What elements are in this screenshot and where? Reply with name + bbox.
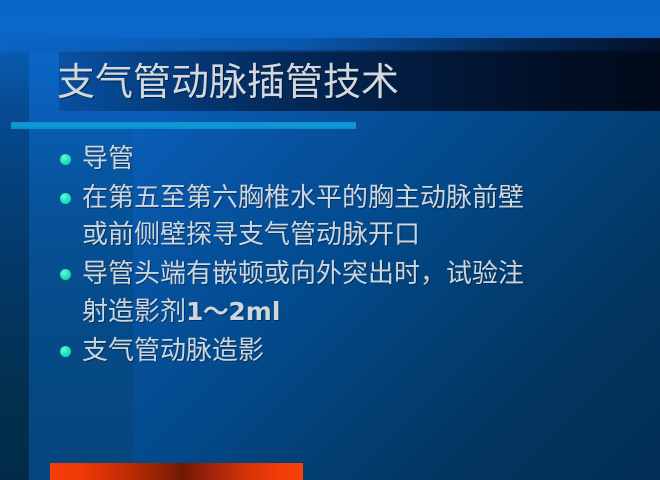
title-underline-rule [11,122,356,129]
slide-title: 支气管动脉插管技术 [57,54,657,110]
list-item: 导管头端有嵌顿或向外突出时，试验注 射造影剂1～2ml [54,256,650,331]
list-item: 导管 [54,141,650,178]
bullet-line-text: 射造影剂 [82,297,186,327]
bullet-list: 导管 在第五至第六胸椎水平的胸主动脉前壁 或前侧壁探寻支气管动脉开口 导管头端有… [54,141,650,372]
bottom-accent-bar [50,463,303,480]
background-left-strip [0,0,29,480]
presentation-slide: 支气管动脉插管技术 导管 在第五至第六胸椎水平的胸主动脉前壁 或前侧壁探寻支气管… [0,0,660,480]
bullet-line: 或前侧壁探寻支气管动脉开口 [82,217,650,254]
bullet-line: 支气管动脉造影 [82,333,650,370]
bullet-dot-icon [60,269,71,280]
bullet-line: 射造影剂1～2ml [82,293,650,331]
list-item: 支气管动脉造影 [54,333,650,370]
bullet-dot-icon [60,346,71,357]
bullet-line: 在第五至第六胸椎水平的胸主动脉前壁 [82,180,650,217]
list-item: 在第五至第六胸椎水平的胸主动脉前壁 或前侧壁探寻支气管动脉开口 [54,180,650,254]
bullet-line: 导管 [82,141,650,178]
bullet-dot-icon [60,154,71,165]
bullet-dot-icon [60,193,71,204]
bullet-line-measure: 1～2ml [186,297,280,326]
bullet-line: 导管头端有嵌顿或向外突出时，试验注 [82,256,650,293]
